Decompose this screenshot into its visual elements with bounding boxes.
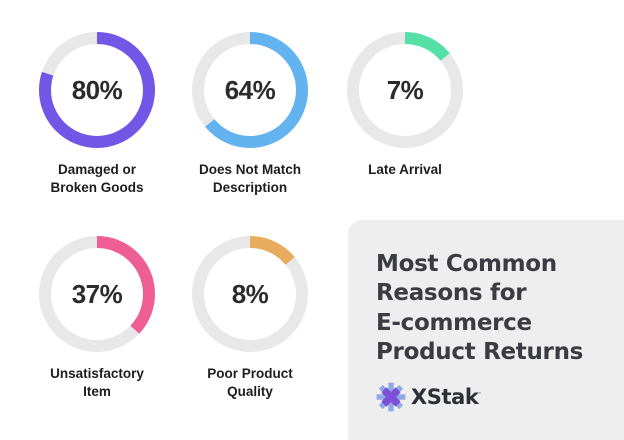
donut-category-label: Unsatisfactory Item	[21, 365, 173, 401]
donut-category-label: Poor Product Quality	[174, 365, 326, 401]
title-panel: Most Common Reasons for E-commerce Produ…	[348, 220, 624, 440]
donut-value-label: 80%	[35, 28, 159, 152]
brand-trademark: ·	[479, 389, 481, 399]
brand-name-text: XStak	[411, 385, 479, 409]
donut-chart-does-not-match-description: 64%	[188, 28, 312, 152]
donut-card: 7% Late Arrival	[329, 28, 481, 179]
donut-card: 80% Damaged or Broken Goods	[21, 28, 173, 197]
infographic-root: 80% Damaged or Broken Goods 64% Does Not…	[0, 0, 624, 440]
donut-category-label: Damaged or Broken Goods	[21, 161, 173, 197]
donut-value-label: 37%	[35, 232, 159, 356]
donut-chart-poor-product-quality: 8%	[188, 232, 312, 356]
donut-card: 8% Poor Product Quality	[174, 232, 326, 401]
xstak-logo-icon	[376, 382, 406, 412]
donut-chart-late-arrival: 7%	[343, 28, 467, 152]
brand-name: XStak·	[411, 385, 481, 409]
xstak-asterisk-icon	[376, 382, 406, 412]
donut-value-label: 8%	[188, 232, 312, 356]
donut-category-label: Does Not Match Description	[174, 161, 326, 197]
donut-value-label: 7%	[343, 28, 467, 152]
donut-category-label: Late Arrival	[329, 161, 481, 179]
donut-chart-unsatisfactory-item: 37%	[35, 232, 159, 356]
brand-lockup: XStak·	[376, 382, 606, 412]
donut-card: 37% Unsatisfactory Item	[21, 232, 173, 401]
donut-chart-damaged-or-broken-goods: 80%	[35, 28, 159, 152]
donut-card: 64% Does Not Match Description	[174, 28, 326, 197]
donut-value-label: 64%	[188, 28, 312, 152]
page-title: Most Common Reasons for E-commerce Produ…	[376, 250, 606, 368]
